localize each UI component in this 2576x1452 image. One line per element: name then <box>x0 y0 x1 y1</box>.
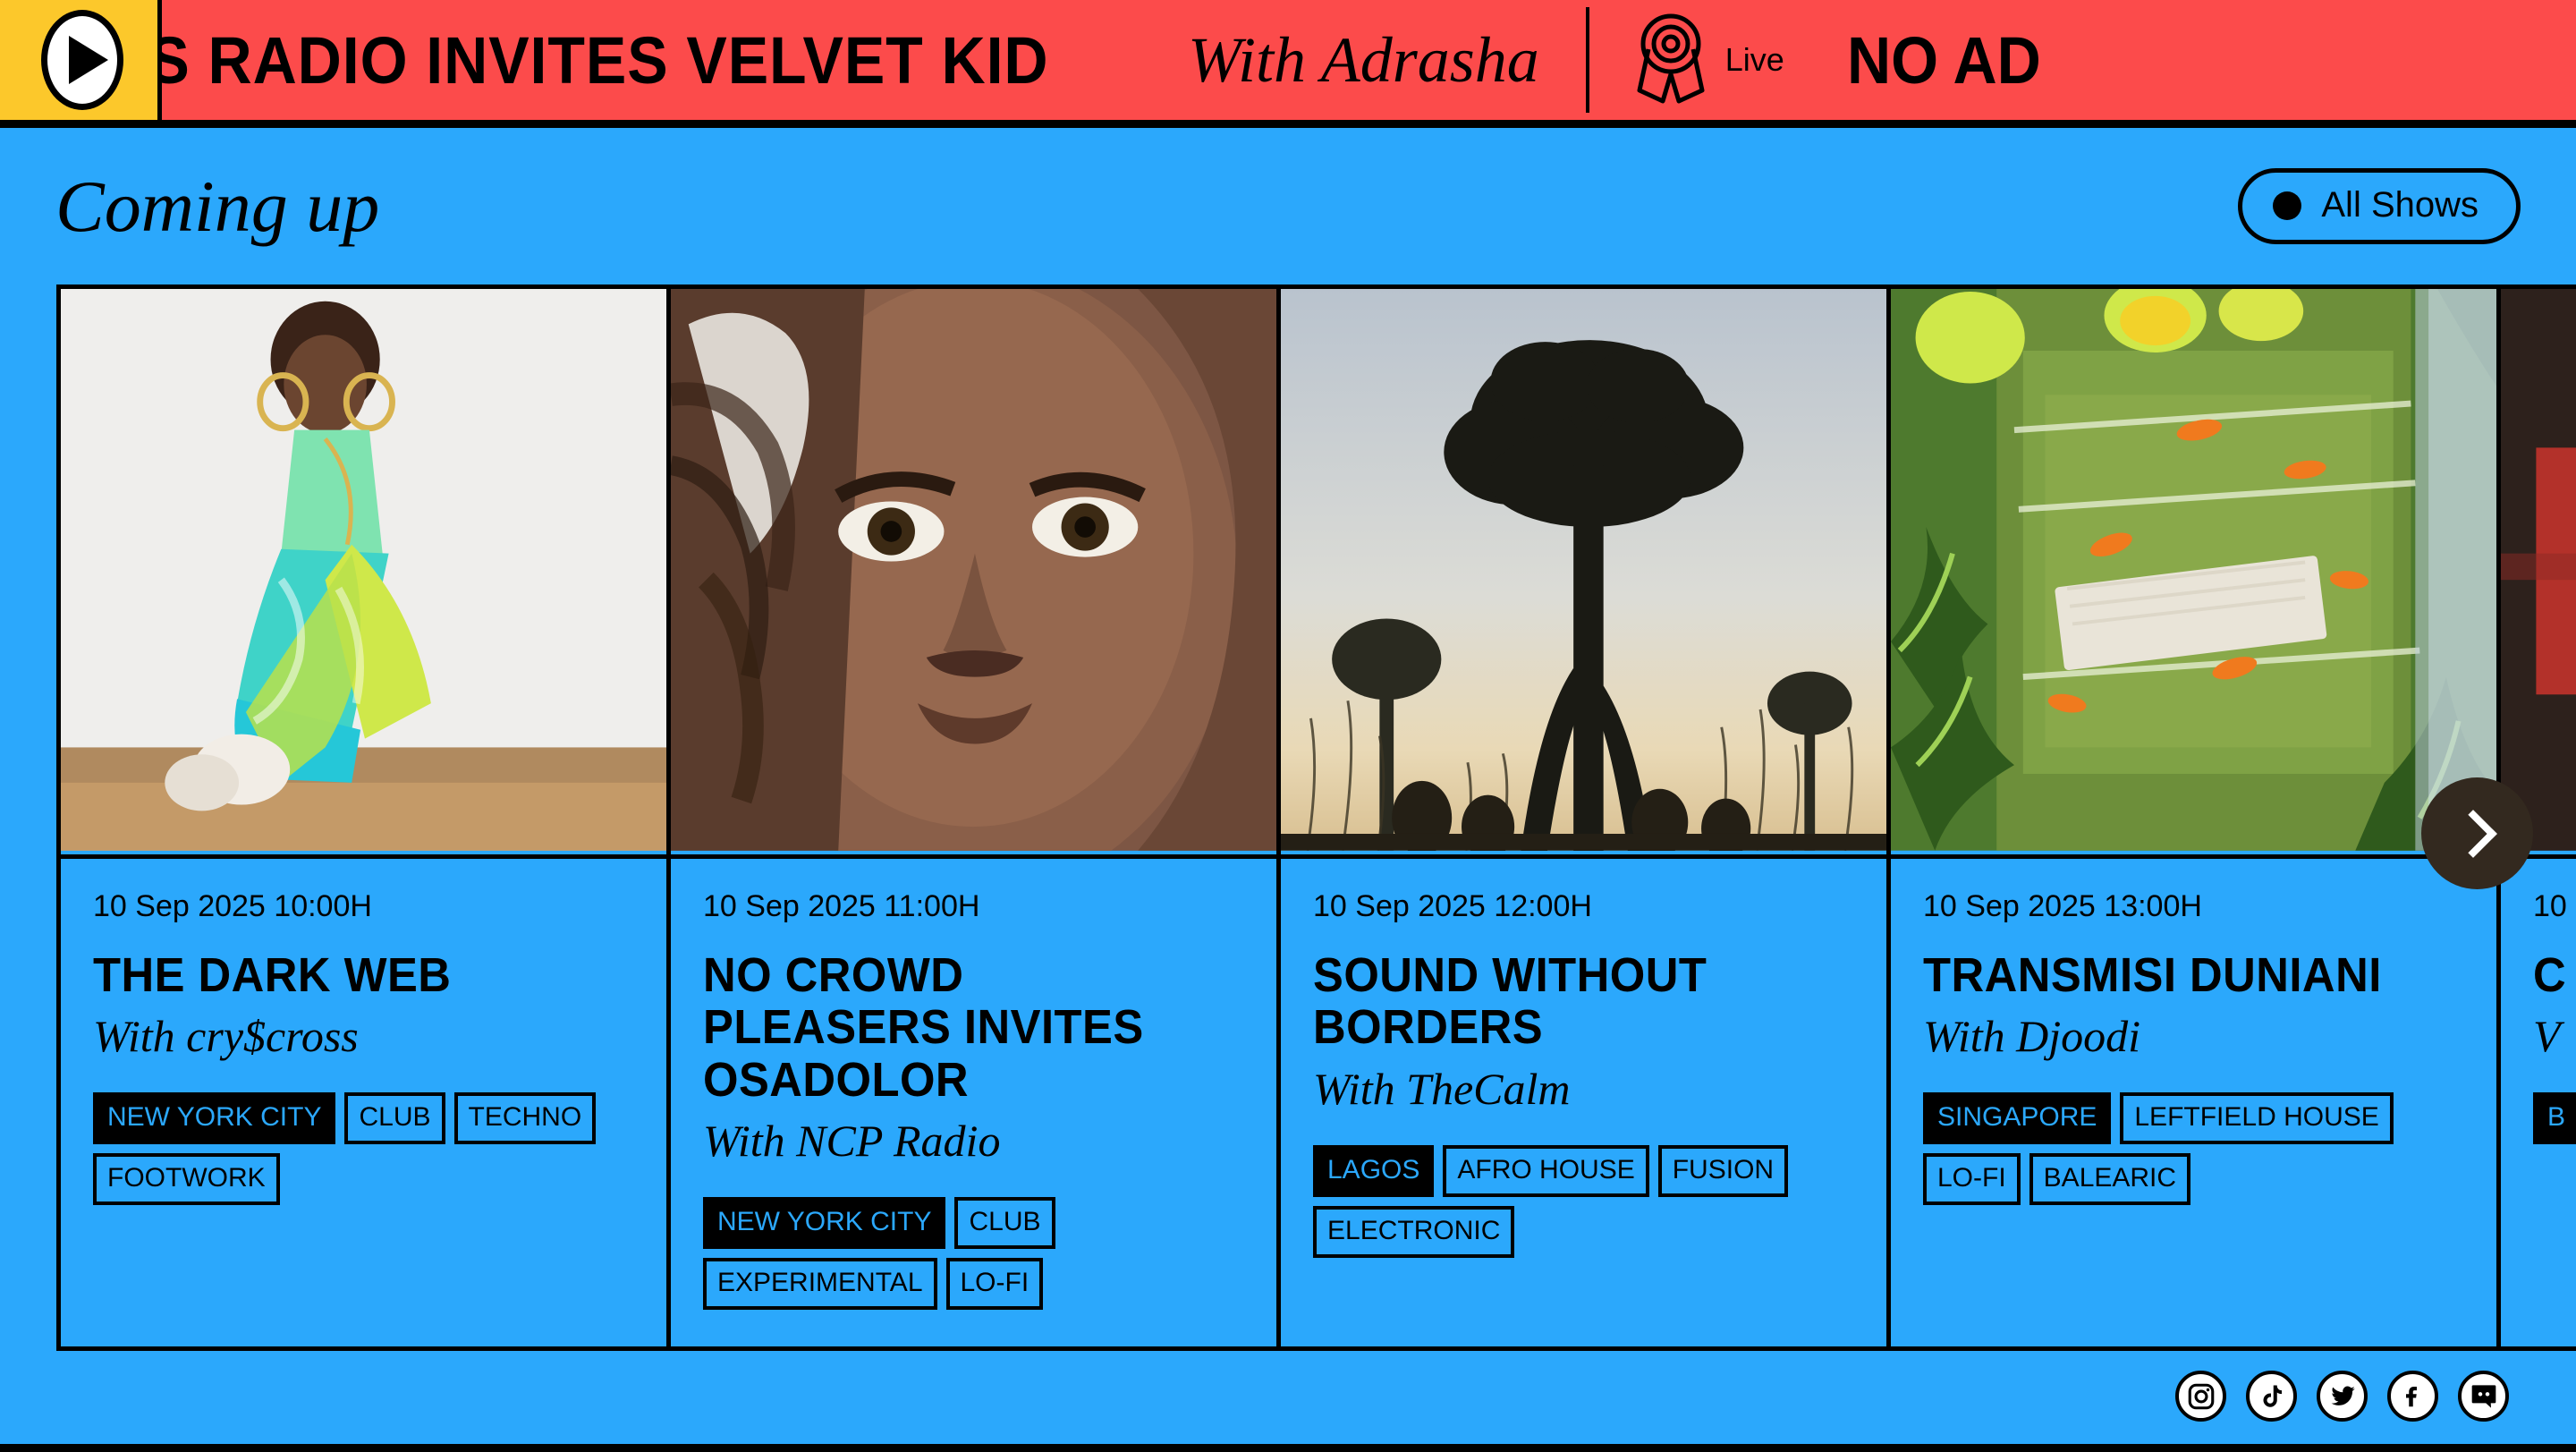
show-tags: B <box>2533 1092 2576 1144</box>
show-info: 10 Sep 2025 11:00H NO CROWD PLEASERS INV… <box>671 859 1276 1310</box>
tag-city[interactable]: NEW YORK CITY <box>703 1197 945 1249</box>
play-icon <box>41 10 123 110</box>
broadcast-icon <box>1636 12 1706 109</box>
carousel-next-button[interactable] <box>2421 777 2533 889</box>
ticker-host: With Adrasha <box>1188 23 1539 98</box>
tag-city[interactable]: SINGAPORE <box>1923 1092 2111 1144</box>
section-header: Coming up All Shows <box>0 128 2576 284</box>
ticker-bar: SS RADIO INVITES VELVET KID With Adrasha… <box>0 0 2576 128</box>
show-title: C S C <box>2533 949 2576 1001</box>
tag-genre[interactable]: ELECTRONIC <box>1313 1206 1514 1258</box>
show-carousel[interactable]: 10 Sep 2025 10:00H THE DARK WEB With cry… <box>56 284 2576 1354</box>
show-date: 10 <box>2533 889 2576 924</box>
show-info: 10 Sep 2025 12:00H SOUND WITHOUT BORDERS… <box>1281 859 1886 1258</box>
dot-icon <box>2273 191 2301 220</box>
tag-genre[interactable]: CLUB <box>344 1092 445 1144</box>
tag-genre[interactable]: LO-FI <box>946 1258 1044 1310</box>
show-host: With NCP Radio <box>703 1115 1244 1167</box>
page-title: Coming up <box>55 170 379 243</box>
show-info: 10 Sep 2025 10:00H THE DARK WEB With cry… <box>61 859 666 1205</box>
live-badge: Live <box>1636 12 1784 109</box>
show-tags: LAGOS AFRO HOUSE FUSION ELECTRONIC <box>1313 1145 1854 1258</box>
show-host: With cry$cross <box>93 1010 634 1062</box>
tag-genre[interactable]: FOOTWORK <box>93 1153 280 1205</box>
tag-genre[interactable]: FUSION <box>1658 1145 1788 1197</box>
tag-genre[interactable]: BALEARIC <box>2029 1153 2190 1205</box>
all-shows-label: All Shows <box>2321 185 2479 225</box>
tag-genre[interactable]: TECHNO <box>454 1092 597 1144</box>
facebook-icon[interactable] <box>2387 1371 2438 1422</box>
live-label: Live <box>1725 41 1784 79</box>
show-info: 10 C S C V B <box>2501 859 2576 1144</box>
tiktok-icon[interactable] <box>2246 1371 2297 1422</box>
show-card[interactable]: 10 Sep 2025 13:00H TRANSMISI DUNIANI Wit… <box>1886 284 2501 1351</box>
show-title: NO CROWD PLEASERS INVITES OSADOLOR <box>703 949 1212 1106</box>
play-button[interactable] <box>0 0 162 120</box>
show-card[interactable]: 10 Sep 2025 11:00H NO CROWD PLEASERS INV… <box>666 284 1281 1351</box>
show-date: 10 Sep 2025 11:00H <box>703 889 1244 924</box>
ticker-headline-next: NO AD <box>1847 22 2041 98</box>
discord-icon[interactable] <box>2458 1371 2509 1422</box>
show-host: With TheCalm <box>1313 1063 1854 1115</box>
show-card[interactable]: 10 Sep 2025 12:00H SOUND WITHOUT BORDERS… <box>1276 284 1891 1351</box>
show-title: TRANSMISI DUNIANI <box>1923 949 2432 1001</box>
show-host: V <box>2533 1010 2576 1062</box>
twitter-icon[interactable] <box>2317 1371 2368 1422</box>
ticker-track: SS RADIO INVITES VELVET KID With Adrasha… <box>0 7 2058 113</box>
social-links <box>2175 1371 2509 1422</box>
show-artwork <box>671 289 1276 859</box>
tag-city[interactable]: NEW YORK CITY <box>93 1092 335 1144</box>
show-date: 10 Sep 2025 12:00H <box>1313 889 1854 924</box>
instagram-icon[interactable] <box>2175 1371 2226 1422</box>
tag-city[interactable]: LAGOS <box>1313 1145 1434 1197</box>
show-tags: NEW YORK CITY CLUB TECHNO FOOTWORK <box>93 1092 634 1205</box>
show-artwork <box>2501 289 2576 859</box>
show-tags: NEW YORK CITY CLUB EXPERIMENTAL LO-FI <box>703 1197 1244 1310</box>
tag-genre[interactable]: CLUB <box>954 1197 1055 1249</box>
show-info: 10 Sep 2025 13:00H TRANSMISI DUNIANI Wit… <box>1891 859 2496 1205</box>
ticker-divider <box>1586 7 1589 113</box>
show-artwork <box>1891 289 2496 859</box>
tag-genre[interactable]: LO-FI <box>1923 1153 2021 1205</box>
all-shows-button[interactable]: All Shows <box>2238 168 2521 244</box>
show-title: SOUND WITHOUT BORDERS <box>1313 949 1822 1054</box>
show-date: 10 Sep 2025 13:00H <box>1923 889 2464 924</box>
show-tags: SINGAPORE LEFTFIELD HOUSE LO-FI BALEARIC <box>1923 1092 2464 1205</box>
ticker-headline: SS RADIO INVITES VELVET KID <box>107 22 1048 98</box>
tag-city[interactable]: B <box>2533 1092 2576 1144</box>
chevron-right-icon <box>2449 810 2497 858</box>
bottom-divider <box>0 1444 2576 1452</box>
show-title: THE DARK WEB <box>93 949 602 1001</box>
tag-genre[interactable]: LEFTFIELD HOUSE <box>2120 1092 2393 1144</box>
show-host: With Djoodi <box>1923 1010 2464 1062</box>
show-date: 10 Sep 2025 10:00H <box>93 889 634 924</box>
tag-genre[interactable]: EXPERIMENTAL <box>703 1258 937 1310</box>
show-card[interactable]: 10 Sep 2025 10:00H THE DARK WEB With cry… <box>56 284 671 1351</box>
tag-genre[interactable]: AFRO HOUSE <box>1443 1145 1648 1197</box>
show-artwork <box>61 289 666 859</box>
show-artwork <box>1281 289 1886 859</box>
